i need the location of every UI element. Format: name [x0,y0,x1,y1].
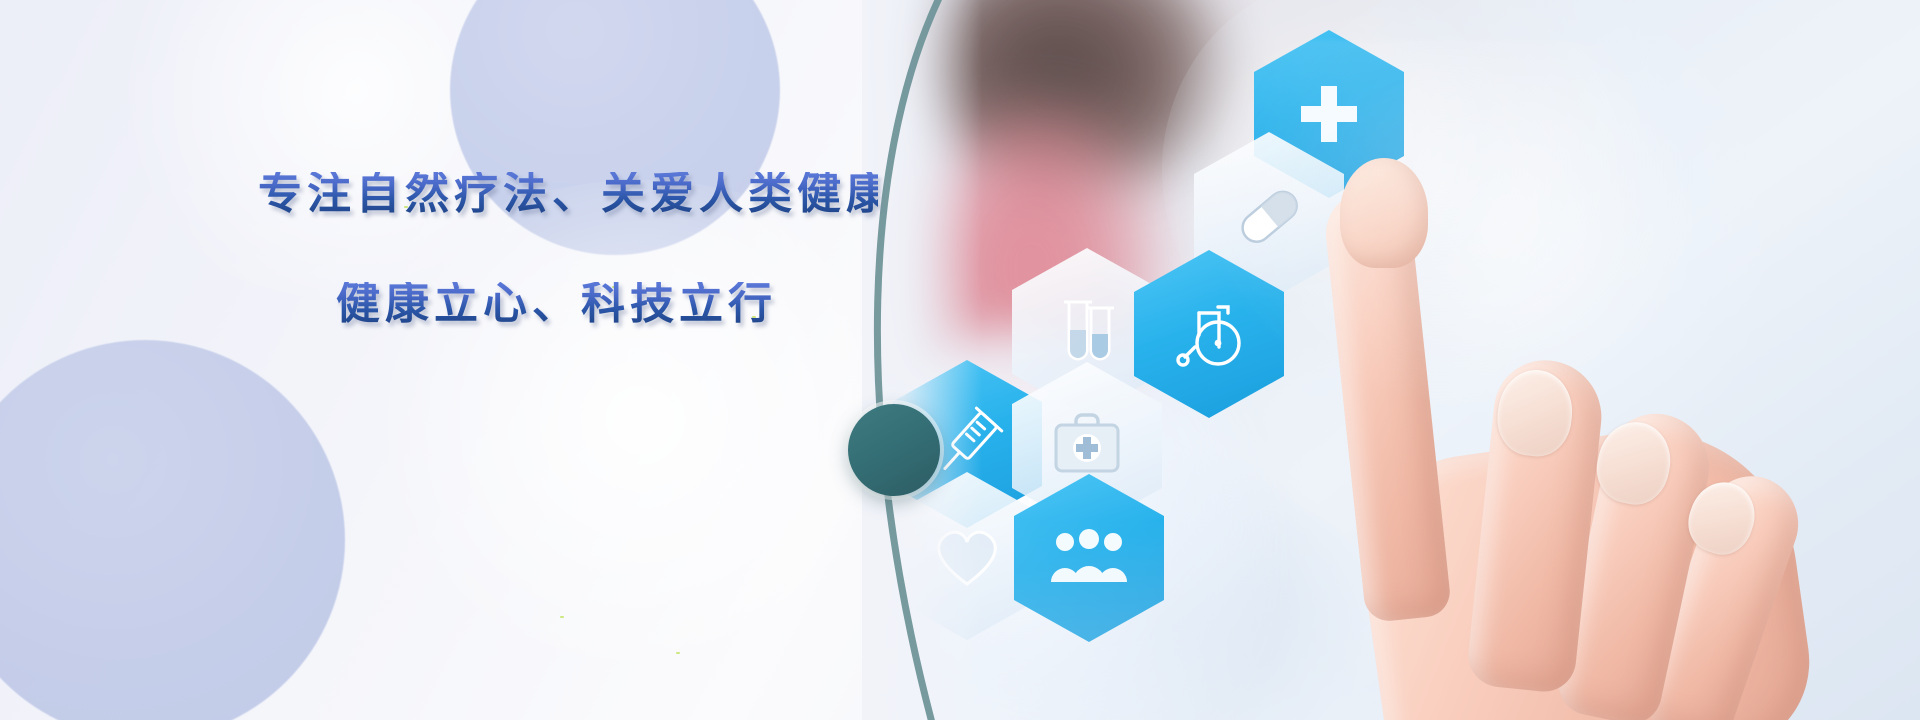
hero-photo [862,0,1920,720]
headline-line-2: 健康立心、科技立行 [336,282,878,326]
headline-block: 专注自然疗法、关爱人类健康 健康立心、科技立行 [258,172,878,326]
speck [676,652,680,654]
speck [560,616,564,618]
headline-line-1: 专注自然疗法、关爱人类健康 [258,172,878,216]
timeline-node [848,404,940,496]
pointing-hand [1192,40,1912,720]
finger-index-tip [1340,158,1428,268]
decorative-circle-bottom [0,340,345,720]
hero-banner: 专注自然疗法、关爱人类健康 健康立心、科技立行 [0,0,1920,720]
